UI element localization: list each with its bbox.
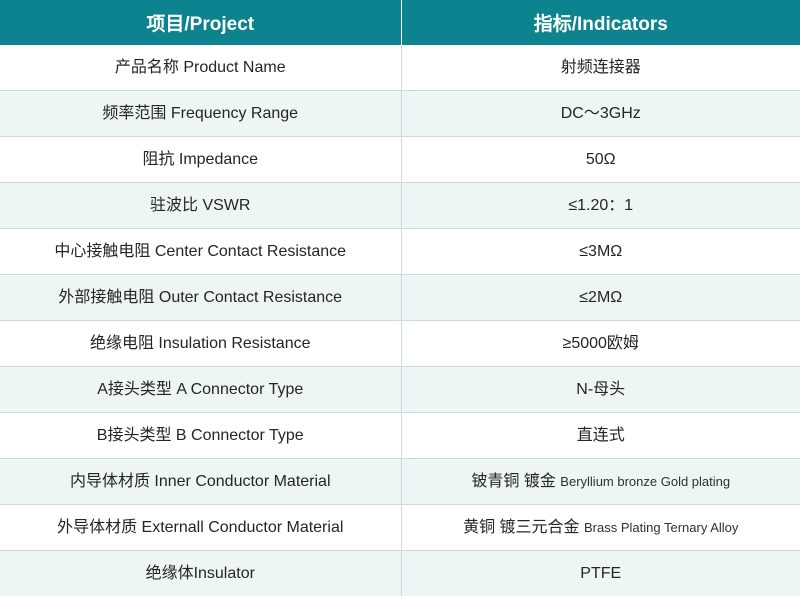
cell-indicator: N-母头	[401, 367, 800, 413]
cell-indicator: 射频连接器	[401, 45, 800, 91]
table-row: 外部接触电阻 Outer Contact Resistance ≤2MΩ	[0, 275, 800, 321]
cell-indicator-main: ≤2MΩ	[579, 289, 622, 306]
cell-indicator-main: DC～3GHz	[561, 105, 641, 122]
table-row: A接头类型 A Connector Type N-母头	[0, 367, 800, 413]
cell-project: 阻抗 Impedance	[0, 137, 401, 183]
table-row: B接头类型 B Connector Type 直连式	[0, 413, 800, 459]
table-row: 中心接触电阻 Center Contact Resistance ≤3MΩ	[0, 229, 800, 275]
table-row: 绝缘电阻 Insulation Resistance ≥5000欧姆	[0, 321, 800, 367]
table-body: 产品名称 Product Name 射频连接器 频率范围 Frequency R…	[0, 45, 800, 596]
cell-indicator: 50Ω	[401, 137, 800, 183]
cell-indicator: 黄铜 镀三元合金 Brass Plating Ternary Alloy	[401, 505, 800, 551]
cell-indicator-main: ≤3MΩ	[579, 243, 622, 260]
table-header: 项目/Project 指标/Indicators	[0, 0, 800, 45]
cell-project: B接头类型 B Connector Type	[0, 413, 401, 459]
cell-indicator: ≤1.20：1	[401, 183, 800, 229]
cell-indicator-sub: Beryllium bronze Gold plating	[560, 474, 730, 489]
cell-indicator-main: 直连式	[577, 427, 625, 444]
cell-project: 产品名称 Product Name	[0, 45, 401, 91]
cell-project: 驻波比 VSWR	[0, 183, 401, 229]
table-header-row: 项目/Project 指标/Indicators	[0, 0, 800, 45]
cell-indicator-main: ≤1.20：1	[568, 197, 633, 214]
cell-indicator-main: 射频连接器	[561, 59, 641, 76]
table-row: 绝缘体Insulator PTFE	[0, 551, 800, 596]
table-row: 外导体材质 Externall Conductor Material 黄铜 镀三…	[0, 505, 800, 551]
cell-project: 绝缘体Insulator	[0, 551, 401, 596]
cell-indicator: DC～3GHz	[401, 91, 800, 137]
cell-indicator-main: N-母头	[576, 381, 625, 398]
cell-indicator: PTFE	[401, 551, 800, 596]
cell-indicator: ≤2MΩ	[401, 275, 800, 321]
cell-indicator-sub: Brass Plating Ternary Alloy	[584, 520, 738, 535]
cell-indicator-main: 铍青铜 镀金	[471, 473, 560, 490]
specification-table: 项目/Project 指标/Indicators 产品名称 Product Na…	[0, 0, 800, 596]
cell-project: 外部接触电阻 Outer Contact Resistance	[0, 275, 401, 321]
table-row: 驻波比 VSWR ≤1.20：1	[0, 183, 800, 229]
table-row: 频率范围 Frequency Range DC～3GHz	[0, 91, 800, 137]
cell-indicator: ≥5000欧姆	[401, 321, 800, 367]
cell-project: 绝缘电阻 Insulation Resistance	[0, 321, 401, 367]
column-header-indicators: 指标/Indicators	[401, 0, 800, 45]
cell-project: A接头类型 A Connector Type	[0, 367, 401, 413]
cell-project: 频率范围 Frequency Range	[0, 91, 401, 137]
cell-indicator-main: 黄铜 镀三元合金	[463, 519, 584, 536]
column-header-project: 项目/Project	[0, 0, 401, 45]
table-row: 阻抗 Impedance 50Ω	[0, 137, 800, 183]
cell-indicator: ≤3MΩ	[401, 229, 800, 275]
table-row: 内导体材质 Inner Conductor Material 铍青铜 镀金 Be…	[0, 459, 800, 505]
cell-project: 外导体材质 Externall Conductor Material	[0, 505, 401, 551]
cell-indicator-main: PTFE	[580, 565, 621, 582]
cell-indicator-main: ≥5000欧姆	[563, 335, 639, 352]
cell-indicator-main: 50Ω	[586, 151, 616, 168]
table-row: 产品名称 Product Name 射频连接器	[0, 45, 800, 91]
cell-indicator: 直连式	[401, 413, 800, 459]
cell-indicator: 铍青铜 镀金 Beryllium bronze Gold plating	[401, 459, 800, 505]
cell-project: 内导体材质 Inner Conductor Material	[0, 459, 401, 505]
cell-project: 中心接触电阻 Center Contact Resistance	[0, 229, 401, 275]
